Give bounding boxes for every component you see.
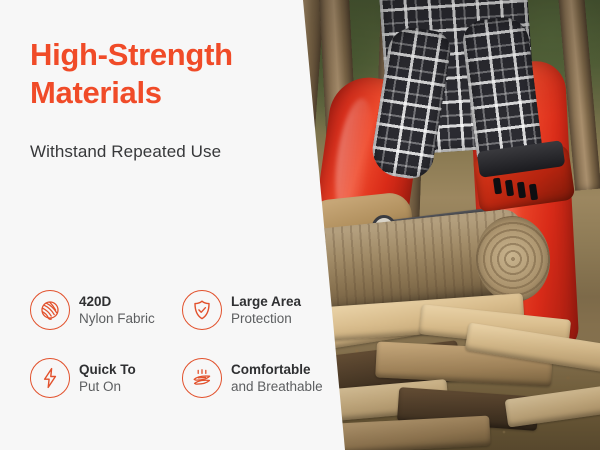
feature-item-quick-to-put-on: Quick To Put On (30, 344, 182, 412)
subtitle: Withstand Repeated Use (30, 142, 221, 162)
feature-title: Comfortable (231, 361, 323, 378)
feature-item-nylon-fabric: 420D Nylon Fabric (30, 276, 182, 344)
feature-label: Comfortable and Breathable (231, 361, 323, 396)
lightning-bolt-icon (30, 358, 70, 398)
feature-list: 420D Nylon Fabric Large Area Protection (30, 276, 330, 412)
feature-title: Quick To (79, 361, 136, 378)
feature-subtitle: Put On (79, 378, 136, 395)
yarn-ball-icon (30, 290, 70, 330)
feature-item-large-area-protection: Large Area Protection (182, 276, 330, 344)
panel-content: High-StrengthMaterials Withstand Repeate… (0, 0, 340, 450)
feature-title: Large Area (231, 293, 301, 310)
product-feature-banner: High-StrengthMaterials Withstand Repeate… (0, 0, 600, 450)
feature-subtitle: Nylon Fabric (79, 310, 155, 327)
feature-label: Quick To Put On (79, 361, 136, 396)
headline-line-1: High-Strength (30, 37, 233, 72)
feature-subtitle: and Breathable (231, 378, 323, 395)
headline-line-2: Materials (30, 75, 162, 110)
shield-check-icon (182, 290, 222, 330)
page-title: High-StrengthMaterials (30, 36, 310, 113)
breathable-fabric-icon (182, 358, 222, 398)
feature-title: 420D (79, 293, 155, 310)
feature-subtitle: Protection (231, 310, 301, 327)
feature-item-comfortable-breathable: Comfortable and Breathable (182, 344, 330, 412)
feature-label: Large Area Protection (231, 293, 301, 328)
feature-label: 420D Nylon Fabric (79, 293, 155, 328)
